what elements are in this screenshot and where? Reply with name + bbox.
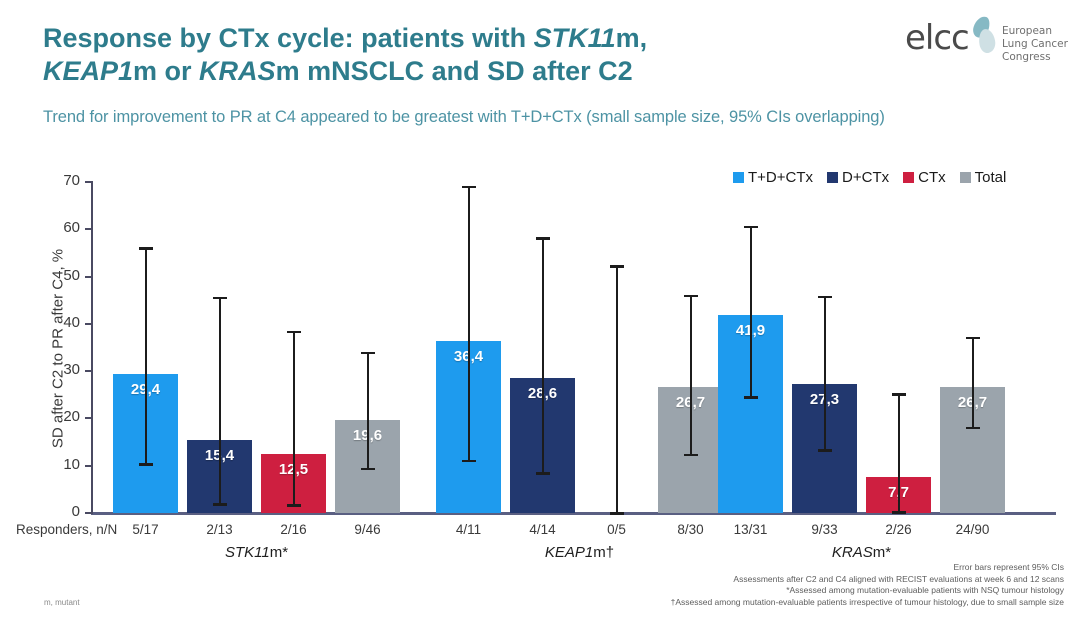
footnote-line-1: Error bars represent 95% CIs	[504, 562, 1064, 574]
y-axis-tick	[85, 417, 93, 419]
slide-header: Response by CTx cycle: patients with STK…	[0, 0, 1080, 150]
leaf-icon-secondary	[977, 28, 997, 54]
footnotes: Error bars represent 95% CIs Assessments…	[504, 562, 1064, 608]
error-bar-cap-lower	[287, 504, 301, 507]
title-gene-keap1: KEAP1	[43, 56, 133, 86]
group-label: KEAP1m†	[436, 544, 723, 561]
error-bar-cap-lower	[361, 468, 375, 471]
error-bar-cap-upper	[892, 393, 906, 396]
group-label-suffix: m*	[873, 544, 891, 561]
y-axis-tick-label: 60	[40, 219, 80, 236]
error-bar-line	[542, 238, 544, 473]
page-subtitle: Trend for improvement to PR at C4 appear…	[43, 108, 1053, 127]
error-bar-cap-upper	[361, 352, 375, 355]
title-gene-kras: KRAS	[199, 56, 276, 86]
responders-value: 2/13	[187, 522, 252, 537]
error-bar-cap-upper	[744, 226, 758, 229]
responders-value: 9/33	[792, 522, 857, 537]
group-label-suffix: m†	[593, 544, 614, 561]
error-bar-cap-upper	[462, 186, 476, 189]
title-gene-stk11: STK11	[534, 23, 616, 53]
responders-value: 4/14	[510, 522, 575, 537]
y-axis-tick	[85, 181, 93, 183]
y-axis-tick-label: 40	[40, 314, 80, 331]
logo-tagline: European Lung Cancer Congress	[1002, 25, 1070, 64]
y-axis-tick	[85, 370, 93, 372]
footnote-line-2: Assessments after C2 and C4 aligned with…	[504, 574, 1064, 586]
title-part-4: m mNSCLC and SD after C2	[276, 56, 633, 86]
chart-plot-area: SD after C2 to PR after C4, % 0102030405…	[0, 160, 1080, 520]
error-bar-cap-lower	[892, 511, 906, 514]
error-bar-cap-lower	[462, 460, 476, 463]
y-axis-tick-label: 30	[40, 361, 80, 378]
y-axis-tick	[85, 512, 93, 514]
error-bar-line	[972, 338, 974, 428]
title-part-3: m or	[133, 56, 199, 86]
group-label: KRASm*	[718, 544, 1005, 561]
responders-value: 2/26	[866, 522, 931, 537]
responders-value: 24/90	[940, 522, 1005, 537]
error-bar-line	[750, 227, 752, 397]
responders-row-label: Responders, n/N	[16, 522, 117, 537]
y-axis-tick	[85, 323, 93, 325]
y-axis-tick-label: 10	[40, 456, 80, 473]
error-bar-line	[824, 297, 826, 450]
responders-value: 2/16	[261, 522, 326, 537]
logo-wordmark: elcc	[905, 18, 969, 58]
abbreviation-note: m, mutant	[44, 598, 80, 607]
y-axis-tick-label: 50	[40, 267, 80, 284]
error-bar-cap-lower	[684, 454, 698, 457]
error-bar-line	[367, 353, 369, 469]
error-bar-cap-lower	[966, 427, 980, 430]
error-bar-cap-upper	[213, 297, 227, 300]
title-part-2: m,	[616, 23, 648, 53]
error-bar-cap-upper	[536, 237, 550, 240]
responders-value: 4/11	[436, 522, 501, 537]
group-label: STK11m*	[113, 544, 400, 561]
y-axis-tick-label: 20	[40, 408, 80, 425]
group-label-gene: KEAP1	[545, 544, 593, 561]
error-bar-line	[898, 394, 900, 512]
error-bar-line	[690, 296, 692, 455]
error-bar-cap-upper	[610, 265, 624, 268]
error-bar-cap-lower	[139, 463, 153, 466]
error-bar-cap-lower	[213, 503, 227, 506]
error-bar-cap-upper	[818, 296, 832, 299]
responders-value: 0/5	[584, 522, 649, 537]
y-axis-tick	[85, 228, 93, 230]
page-title: Response by CTx cycle: patients with STK…	[43, 22, 873, 88]
group-label-gene: KRAS	[832, 544, 873, 561]
responders-value: 9/46	[335, 522, 400, 537]
y-axis-label: SD after C2 to PR after C4, %	[50, 229, 67, 469]
error-bar-line	[468, 187, 470, 461]
error-bar-cap-upper	[139, 247, 153, 250]
group-label-gene: STK11	[225, 544, 270, 561]
error-bar-cap-upper	[966, 337, 980, 340]
responders-value: 5/17	[113, 522, 178, 537]
error-bar-cap-lower	[536, 472, 550, 475]
error-bar-line	[145, 248, 147, 464]
error-bar-cap-lower	[744, 396, 758, 399]
y-axis-tick-label: 0	[40, 503, 80, 520]
responders-value: 13/31	[718, 522, 783, 537]
error-bar-line	[616, 266, 618, 513]
y-axis-tick	[85, 276, 93, 278]
y-axis-tick	[85, 465, 93, 467]
error-bar-cap-lower	[610, 512, 624, 515]
error-bar-line	[219, 298, 221, 504]
responders-value: 8/30	[658, 522, 723, 537]
footnote-line-3: *Assessed among mutation-evaluable patie…	[504, 585, 1064, 597]
error-bar-cap-lower	[818, 449, 832, 452]
error-bar-cap-upper	[684, 295, 698, 298]
error-bar-cap-upper	[287, 331, 301, 334]
group-label-suffix: m*	[270, 544, 288, 561]
title-part-1: Response by CTx cycle: patients with	[43, 23, 534, 53]
y-axis-tick-label: 70	[40, 172, 80, 189]
footnote-line-4: †Assessed among mutation-evaluable patie…	[504, 597, 1064, 609]
error-bar-line	[293, 332, 295, 506]
elcc-logo: elcc European Lung Cancer Congress	[905, 16, 1070, 64]
